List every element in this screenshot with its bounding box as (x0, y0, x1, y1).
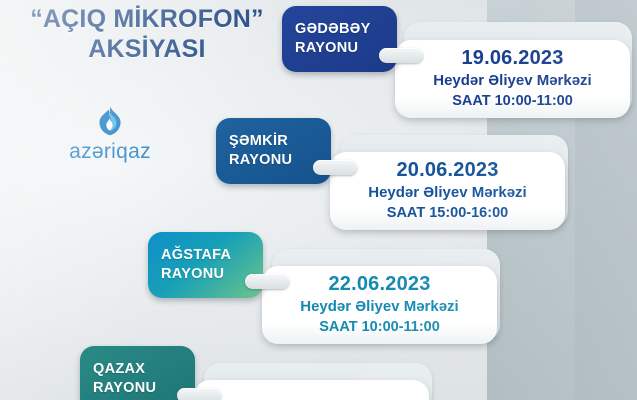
region-suffix: RAYONU (93, 379, 183, 398)
schedule-card: 22.06.2023 Heydər Əliyev Mərkəzi SAAT 10… (262, 266, 497, 344)
tag-connector (313, 160, 357, 175)
tag-connector (245, 274, 289, 289)
region-name: AĞSTAFA (161, 246, 251, 265)
title-line-2: AKSİYASI (12, 36, 282, 63)
schedule-card: 20.06.2023 Heydər Əliyev Mərkəzi SAAT 15… (330, 152, 565, 230)
region-name: GƏDƏBƏY (295, 20, 385, 39)
event-venue: Heydər Əliyev Mərkəzi (368, 183, 526, 203)
region-tag-semkir[interactable]: ŞƏMKİR RAYONU (216, 118, 331, 184)
event-time: SAAT 10:00-11:00 (452, 92, 573, 111)
page-title: “AÇIQ MİKROFON” AKSİYASI (12, 6, 282, 63)
region-suffix: RAYONU (229, 151, 319, 170)
region-tag-agstafa[interactable]: AĞSTAFA RAYONU (148, 232, 263, 298)
event-date: 19.06.2023 (461, 47, 563, 70)
event-date: 22.06.2023 (328, 273, 430, 296)
tag-connector (177, 388, 221, 400)
event-time: SAAT 10:00-11:00 (319, 318, 440, 337)
region-tag-gedebey[interactable]: GƏDƏBƏY RAYONU (282, 6, 397, 72)
schedule-card: 19.06.2023 Heydər Əliyev Mərkəzi SAAT 10… (395, 40, 630, 118)
region-tag-qazax[interactable]: QAZAX RAYONU (80, 346, 195, 400)
event-venue: Heydər Əliyev Mərkəzi (433, 71, 591, 91)
region-name: QAZAX (93, 360, 183, 379)
tag-connector (379, 48, 423, 63)
event-time: SAAT 15:00-16:00 (387, 204, 508, 223)
flame-icon (97, 106, 123, 136)
region-name: ŞƏMKİR (229, 132, 319, 151)
region-suffix: RAYONU (161, 265, 251, 284)
title-line-1: “AÇIQ MİKROFON” (12, 6, 282, 33)
event-date: 20.06.2023 (396, 159, 498, 182)
brand-name: azəriqaz (56, 140, 164, 164)
event-venue: Heydər Əliyev Mərkəzi (300, 297, 458, 317)
brand-logo: azəriqaz (56, 106, 164, 164)
schedule-card (194, 380, 429, 400)
poster: “AÇIQ MİKROFON” AKSİYASI azəriqaz 19.06.… (0, 0, 637, 400)
region-suffix: RAYONU (295, 39, 385, 58)
